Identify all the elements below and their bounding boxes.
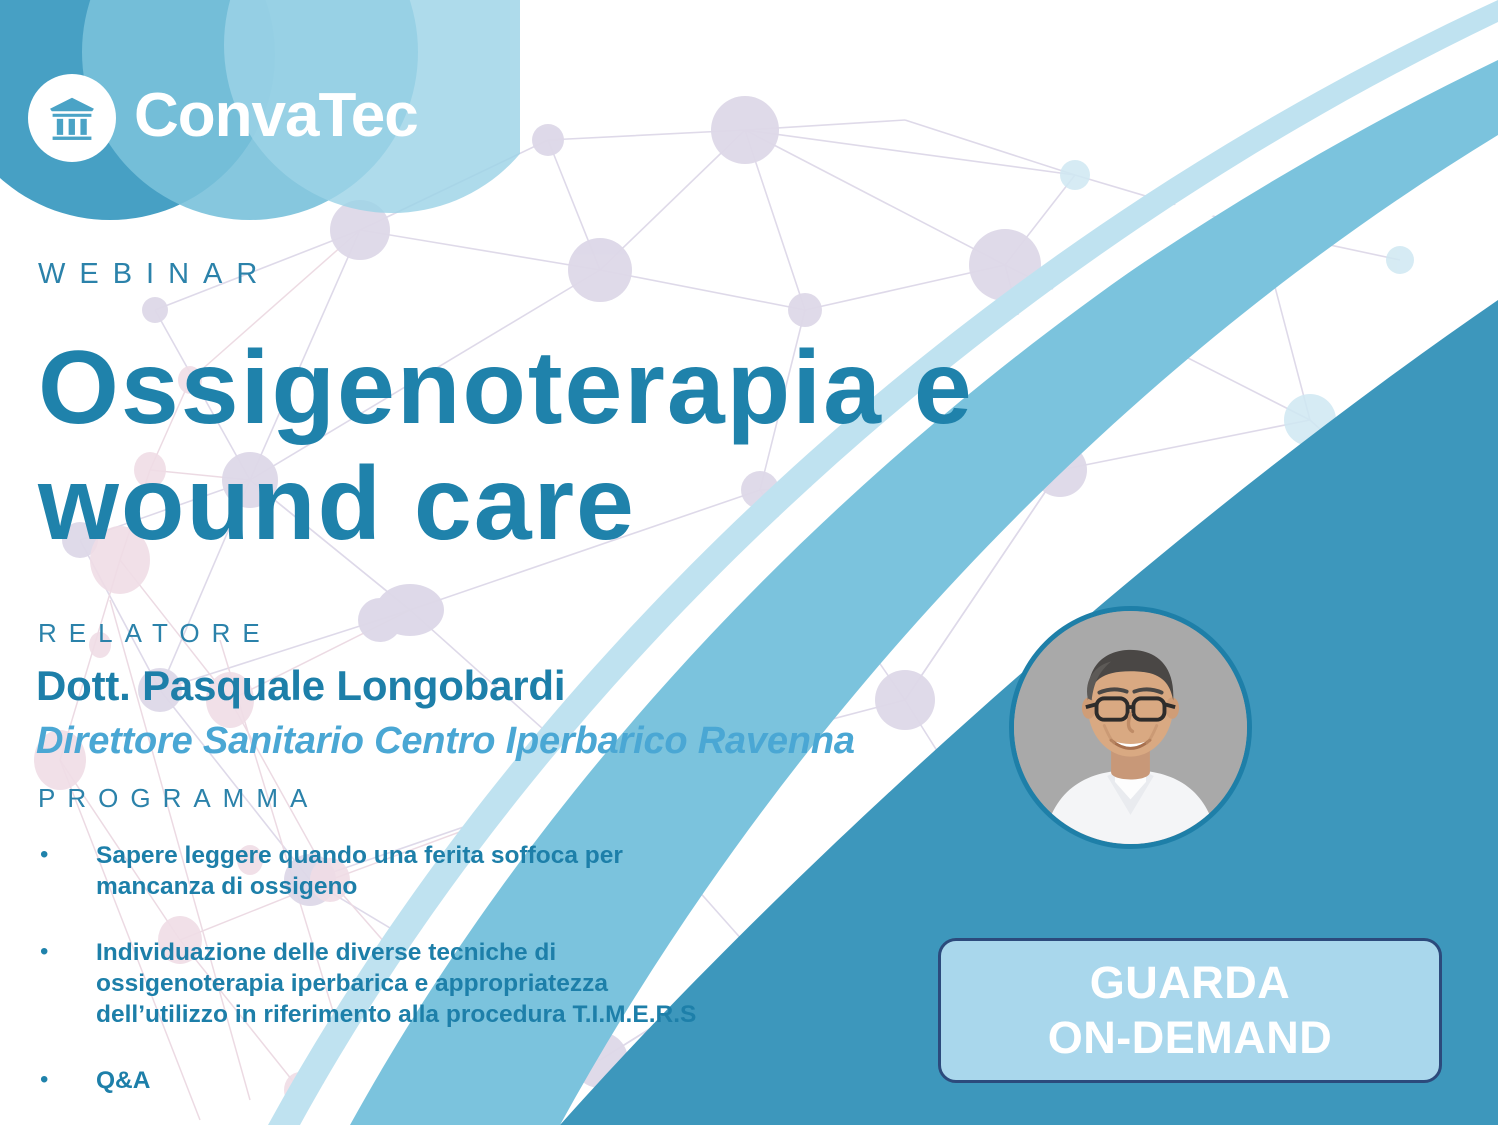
bullet-icon: • bbox=[30, 937, 96, 968]
agenda-item-text: Q&A bbox=[96, 1065, 150, 1096]
list-item: • Q&A bbox=[30, 1065, 810, 1096]
watch-on-demand-button[interactable]: GUARDA ON-DEMAND bbox=[938, 938, 1442, 1083]
speaker-role: Direttore Sanitario Centro Iperbarico Ra… bbox=[36, 720, 855, 763]
cta-label-line2: ON-DEMAND bbox=[1048, 1014, 1332, 1063]
bullet-icon: • bbox=[30, 1065, 96, 1096]
agenda-item-text: Sapere leggere quando una ferita soffoca… bbox=[96, 840, 623, 903]
speaker-avatar bbox=[1009, 606, 1252, 849]
avatar-photo bbox=[1014, 611, 1247, 844]
agenda-list: • Sapere leggere quando una ferita soffo… bbox=[30, 840, 810, 1125]
agenda-item-text: Individuazione delle diverse tecniche di… bbox=[96, 937, 696, 1031]
cta-label-line1: GUARDA bbox=[1090, 959, 1291, 1008]
webinar-promo-slide: ConvaTec WEBINAR Ossigenoterapia e wound… bbox=[0, 0, 1498, 1125]
list-item: • Sapere leggere quando una ferita soffo… bbox=[30, 840, 810, 903]
eyebrow-relatore: RELATORE bbox=[38, 618, 272, 649]
eyebrow-programma: PROGRAMMA bbox=[38, 783, 319, 814]
page-title: Ossigenoterapia e wound care bbox=[38, 330, 1178, 563]
bullet-icon: • bbox=[30, 840, 96, 871]
list-item: • Individuazione delle diverse tecniche … bbox=[30, 937, 810, 1031]
eyebrow-webinar: WEBINAR bbox=[38, 258, 271, 291]
speaker-name: Dott. Pasquale Longobardi bbox=[36, 662, 565, 710]
